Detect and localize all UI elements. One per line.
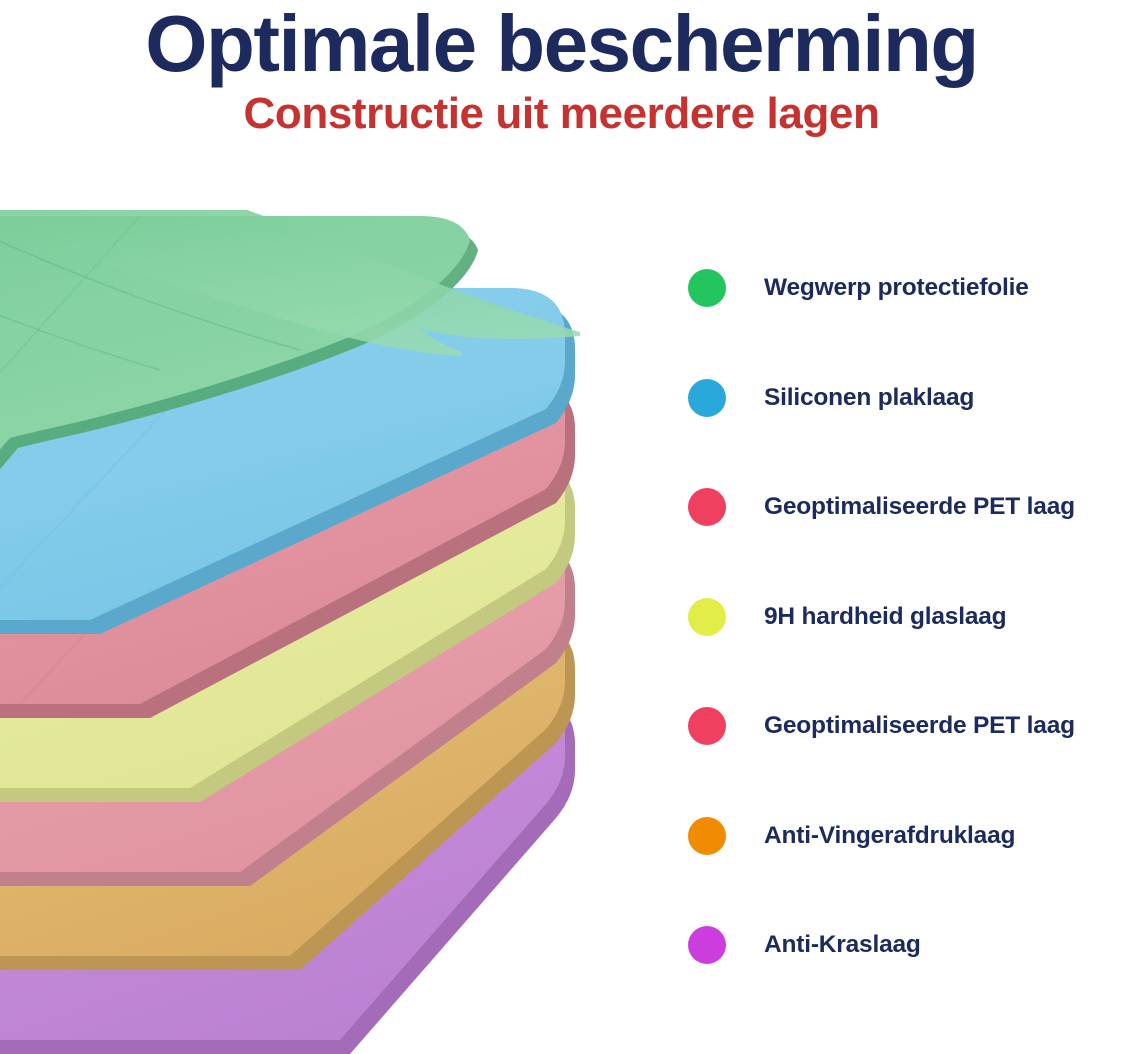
color-swatch-dot bbox=[688, 598, 726, 636]
color-swatch-dot bbox=[688, 379, 726, 417]
legend-item-label: 9H hardheid glaslaag bbox=[764, 603, 1006, 631]
legend-item-label: Anti-Vingerafdruklaag bbox=[764, 822, 1015, 850]
legend-item: Geoptimaliseerde PET laag bbox=[688, 704, 1118, 814]
page-title: Optimale bescherming bbox=[0, 2, 1123, 85]
legend-item-label: Siliconen plaklaag bbox=[764, 384, 974, 412]
color-swatch-dot bbox=[688, 269, 726, 307]
legend-item: Wegwerp protectiefolie bbox=[688, 266, 1118, 376]
legend-item: Anti-Vingerafdruklaag bbox=[688, 814, 1118, 924]
color-swatch-dot bbox=[688, 488, 726, 526]
legend-item-label: Geoptimaliseerde PET laag bbox=[764, 493, 1075, 521]
page-header: Optimale bescherming Constructie uit mee… bbox=[0, 0, 1123, 137]
layer-legend: Wegwerp protectiefolie Siliconen plaklaa… bbox=[688, 266, 1118, 1033]
color-swatch-dot bbox=[688, 926, 726, 964]
layer-stack-illustration bbox=[0, 210, 640, 1054]
legend-item-label: Geoptimaliseerde PET laag bbox=[764, 712, 1075, 740]
legend-item: 9H hardheid glaslaag bbox=[688, 595, 1118, 705]
legend-item: Siliconen plaklaag bbox=[688, 376, 1118, 486]
legend-item: Geoptimaliseerde PET laag bbox=[688, 485, 1118, 595]
color-swatch-dot bbox=[688, 707, 726, 745]
page-subtitle: Constructie uit meerdere lagen bbox=[0, 91, 1123, 137]
legend-item-label: Wegwerp protectiefolie bbox=[764, 274, 1029, 302]
legend-item-label: Anti-Kraslaag bbox=[764, 931, 921, 959]
color-swatch-dot bbox=[688, 817, 726, 855]
legend-item: Anti-Kraslaag bbox=[688, 923, 1118, 1033]
